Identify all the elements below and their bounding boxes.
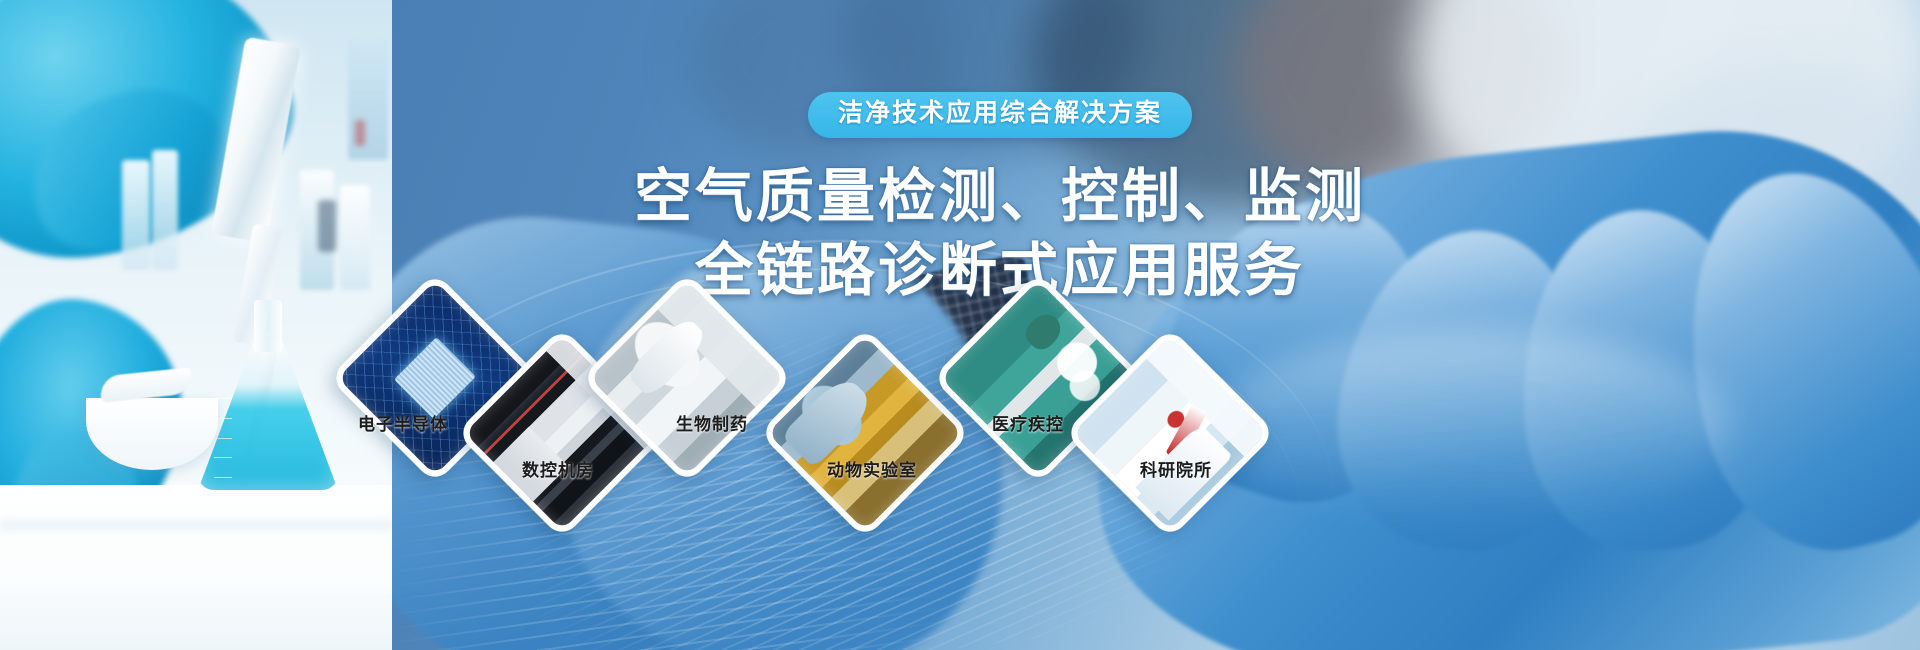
industry-card-label-medical: 医疗疾控 <box>992 410 1064 435</box>
industry-card-label-datacenter: 数控机房 <box>522 456 594 481</box>
promo-banner: 洁净技术应用综合解决方案 空气质量检测、控制、监测 全链路诊断式应用服务 电子半… <box>0 0 1920 650</box>
industry-card-label-research: 科研院所 <box>1140 456 1212 481</box>
industry-card-label-semiconductor: 电子半导体 <box>358 410 448 435</box>
industry-card-label-biopharma: 生物制药 <box>676 410 748 435</box>
industry-card-row: 电子半导体 数控机房 生物制药 动物实验室 医疗疾控 科研院所 <box>0 0 1920 650</box>
card-image-animal-lab <box>767 335 962 530</box>
industry-card-animal-lab[interactable] <box>759 327 971 539</box>
industry-card-label-animal-lab: 动物实验室 <box>827 456 917 481</box>
